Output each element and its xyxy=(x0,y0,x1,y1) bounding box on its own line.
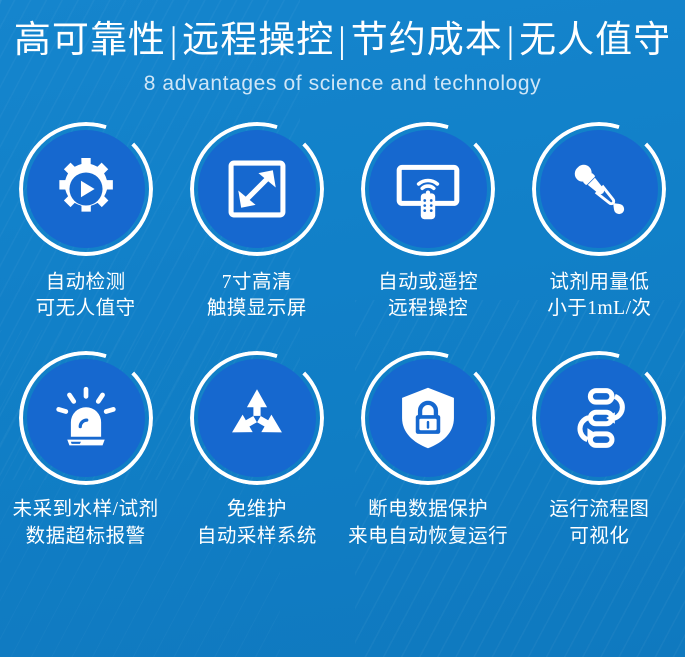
feature-label-line1: 未采到水样/试剂 xyxy=(13,497,159,524)
feature-label: 断电数据保护 来电自动恢复运行 xyxy=(348,497,508,551)
title-separator-2: | xyxy=(334,20,350,61)
feature-icon-badge xyxy=(27,130,145,248)
tv-remote-wifi-icon xyxy=(392,153,464,225)
feature-item-remote-control[interactable]: 自动或遥控 远程操控 xyxy=(343,130,514,324)
feature-label-line2: 远程操控 xyxy=(378,296,478,323)
feature-label: 自动或遥控 远程操控 xyxy=(378,270,478,324)
feature-icon-badge xyxy=(540,130,658,248)
feature-label-line1: 7寸高清 xyxy=(207,270,307,297)
feature-item-alarm[interactable]: 未采到水样/试剂 数据超标报警 xyxy=(0,359,171,551)
feature-label-line1: 试剂用量低 xyxy=(547,270,651,297)
title-part-3: 节约成本 xyxy=(351,20,503,61)
feature-item-power-protection[interactable]: 断电数据保护 来电自动恢复运行 xyxy=(343,359,514,551)
feature-label-line1: 运行流程图 xyxy=(549,497,649,524)
shield-lock-icon xyxy=(392,382,464,454)
title-separator-1: | xyxy=(166,20,182,61)
poster-header: 高可靠性|远程操控|节约成本|无人值守 8 advantages of scie… xyxy=(0,0,685,96)
feature-icon-badge xyxy=(27,359,145,477)
feature-label: 未采到水样/试剂 数据超标报警 xyxy=(13,497,159,551)
title-part-4: 无人值守 xyxy=(519,20,671,61)
feature-item-reagent-dosage[interactable]: 试剂用量低 小于1mL/次 xyxy=(514,130,685,324)
poster-canvas: 高可靠性|远程操控|节约成本|无人值守 8 advantages of scie… xyxy=(0,0,685,657)
expand-arrows-icon xyxy=(221,153,293,225)
page-subtitle: 8 advantages of science and technology xyxy=(0,72,685,96)
feature-label-line2: 数据超标报警 xyxy=(13,524,159,551)
feature-label: 免维护 自动采样系统 xyxy=(197,497,317,551)
page-title: 高可靠性|远程操控|节约成本|无人值守 xyxy=(0,20,685,63)
feature-item-auto-detect[interactable]: 自动检测 可无人值守 xyxy=(0,130,171,324)
flowchart-loop-icon xyxy=(563,382,635,454)
feature-label: 7寸高清 触摸显示屏 xyxy=(207,270,307,324)
feature-icon-badge xyxy=(369,359,487,477)
recycle-icon xyxy=(221,382,293,454)
feature-label-line2: 小于1mL/次 xyxy=(547,296,651,323)
feature-item-flowchart[interactable]: 运行流程图 可视化 xyxy=(514,359,685,551)
gear-play-icon xyxy=(50,153,122,225)
feature-label-line2: 触摸显示屏 xyxy=(207,296,307,323)
feature-label-line2: 可视化 xyxy=(549,524,649,551)
feature-label-line2: 来电自动恢复运行 xyxy=(348,524,508,551)
features-row-2: 未采到水样/试剂 数据超标报警 xyxy=(0,359,685,551)
feature-label-line1: 自动或遥控 xyxy=(378,270,478,297)
feature-icon-badge xyxy=(198,130,316,248)
feature-label-line1: 自动检测 xyxy=(36,270,136,297)
dropper-pipette-icon xyxy=(563,153,635,225)
title-separator-3: | xyxy=(503,20,519,61)
title-part-2: 远程操控 xyxy=(182,20,334,61)
feature-label-line2: 自动采样系统 xyxy=(197,524,317,551)
feature-label-line1: 断电数据保护 xyxy=(348,497,508,524)
feature-icon-badge xyxy=(540,359,658,477)
feature-label-line1: 免维护 xyxy=(197,497,317,524)
feature-label-line2: 可无人值守 xyxy=(36,296,136,323)
features-row-1: 自动检测 可无人值守 7寸高 xyxy=(0,130,685,324)
feature-icon-badge xyxy=(198,359,316,477)
feature-label: 运行流程图 可视化 xyxy=(549,497,649,551)
feature-icon-badge xyxy=(369,130,487,248)
feature-item-touchscreen[interactable]: 7寸高清 触摸显示屏 xyxy=(171,130,342,324)
features-grid: 自动检测 可无人值守 7寸高 xyxy=(0,130,685,552)
alarm-siren-icon xyxy=(50,382,122,454)
feature-item-maintenance-free[interactable]: 免维护 自动采样系统 xyxy=(171,359,342,551)
feature-label: 自动检测 可无人值守 xyxy=(36,270,136,324)
feature-label: 试剂用量低 小于1mL/次 xyxy=(547,270,651,324)
title-part-1: 高可靠性 xyxy=(14,20,166,61)
